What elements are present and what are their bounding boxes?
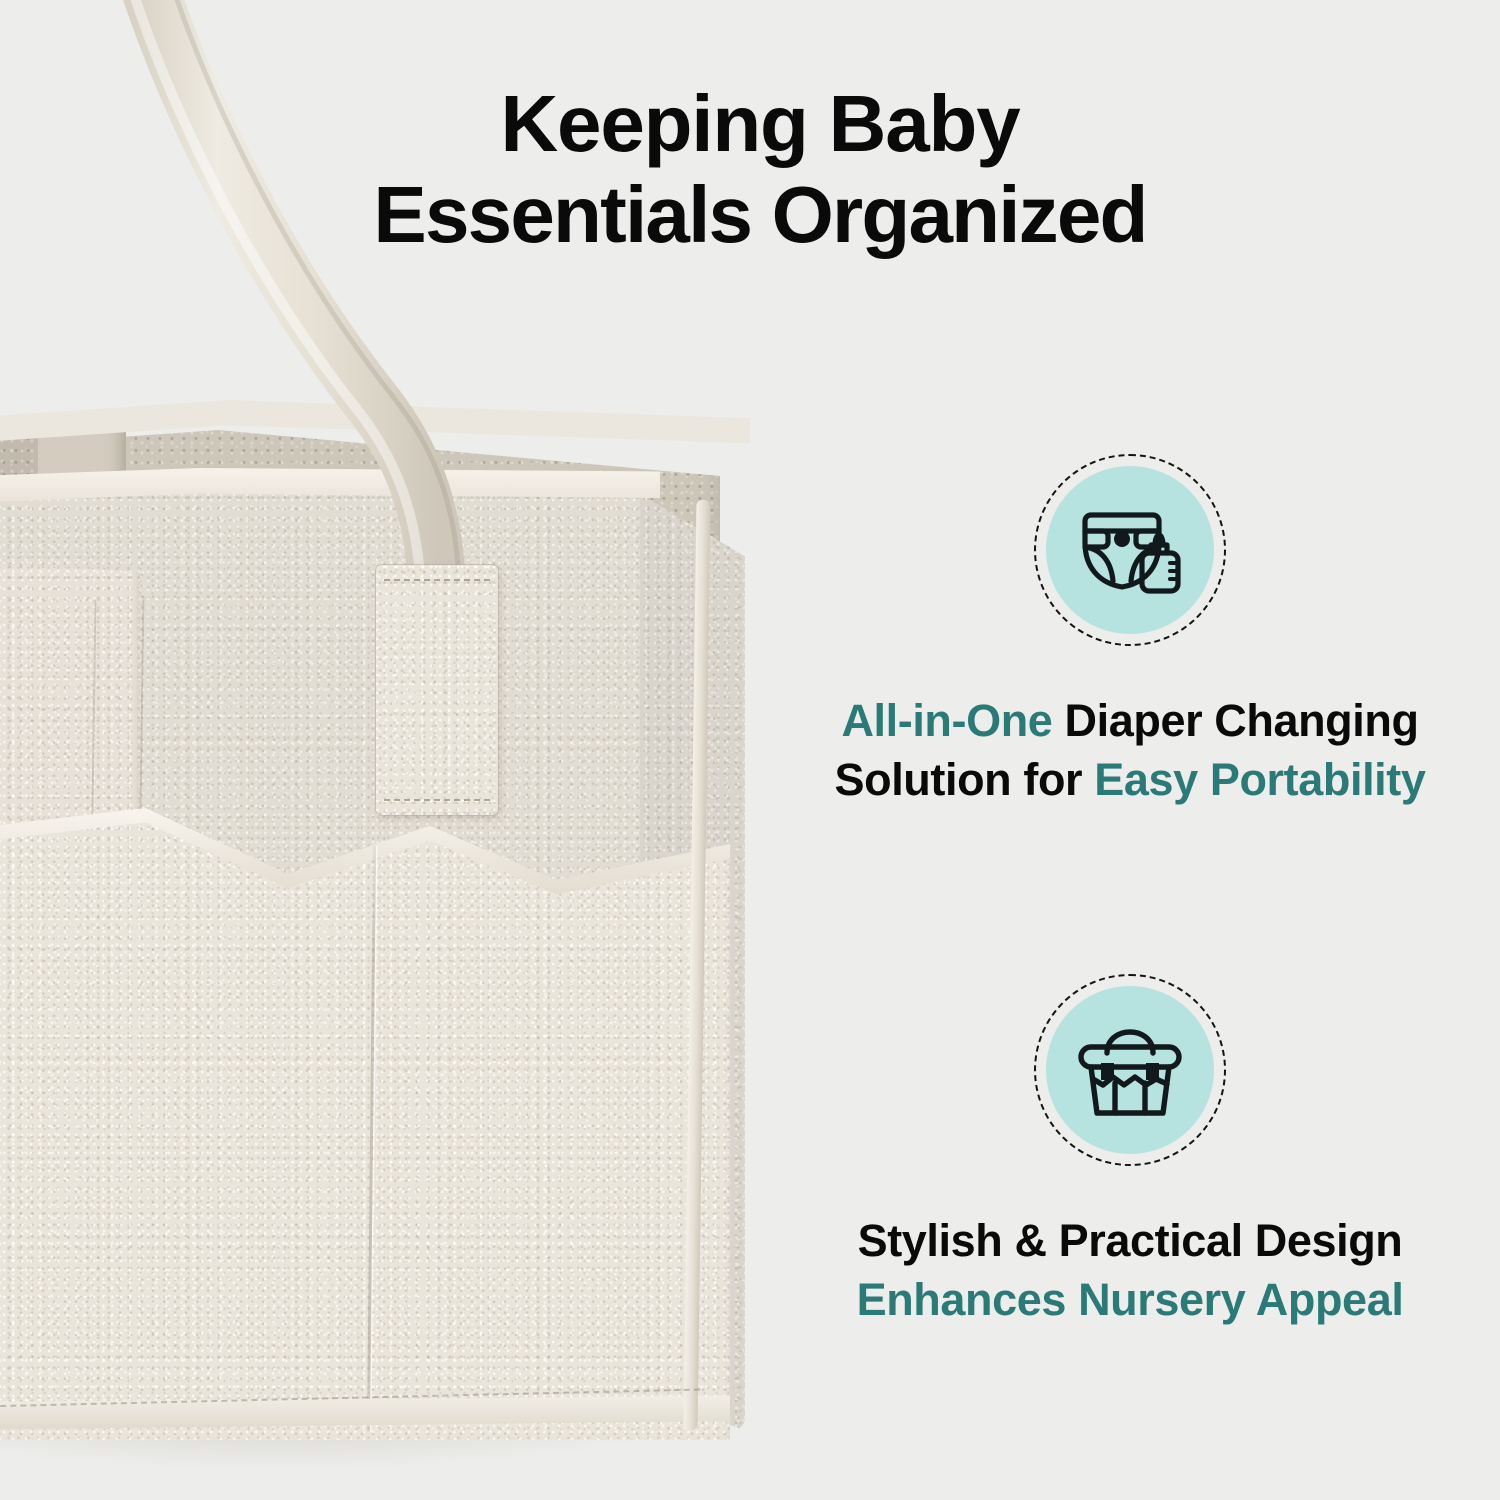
feature-item-diaper-changing: All-in-One Diaper Changing Solution for …: [760, 452, 1500, 809]
feature-list: All-in-One Diaper Changing Solution for …: [760, 0, 1500, 1500]
caption-highlight-1: All-in-One: [841, 695, 1052, 746]
feature-item-stylish-design: Stylish & Practical Design Enhances Nurs…: [760, 972, 1500, 1329]
feature-caption: All-in-One Diaper Changing Solution for …: [760, 692, 1500, 809]
tab-stitch-top: [384, 579, 490, 581]
storage-basket-icon: [1046, 986, 1214, 1154]
diaper-and-bottle-icon: [1046, 466, 1214, 634]
feature-icon-badge: [1032, 452, 1228, 648]
feature-caption: Stylish & Practical Design Enhances Nurs…: [760, 1212, 1500, 1329]
feature-icon-badge: [1032, 972, 1228, 1168]
infographic-canvas: Keeping Baby Essentials Organized: [0, 0, 1500, 1500]
caption-highlight-1: Enhances Nursery Appeal: [857, 1274, 1404, 1325]
caddy-handle-tab: [376, 565, 498, 815]
caption-plain-1: Stylish & Practical Design: [858, 1215, 1403, 1266]
caption-highlight-2: Easy Portability: [1094, 754, 1425, 805]
caddy-front-pocket: [0, 800, 730, 1440]
tab-stitch-bottom: [384, 799, 490, 801]
